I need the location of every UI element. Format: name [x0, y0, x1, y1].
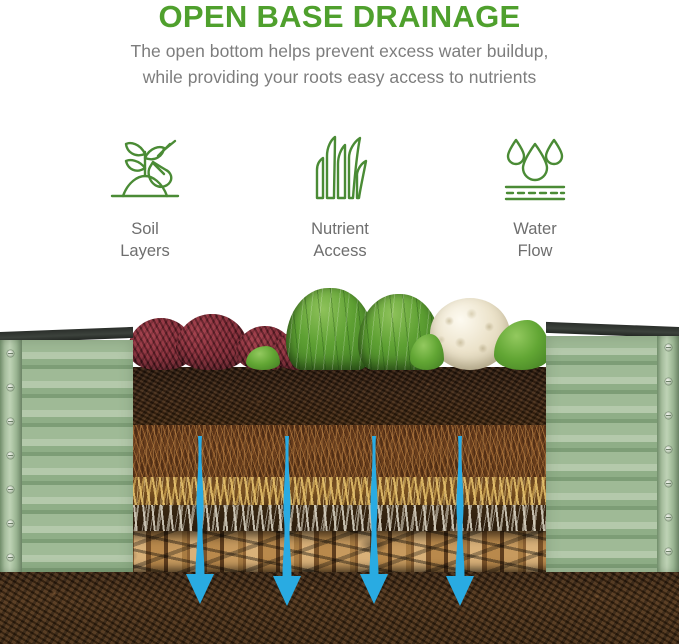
feature-soil-layers: Soil Layers — [60, 132, 230, 272]
feature-nutrient-access: Nutrient Access — [255, 132, 425, 272]
feature-nutrient-access-label: Nutrient Access — [311, 218, 369, 262]
panel-screw — [7, 350, 14, 357]
panel-screw — [7, 520, 14, 527]
feature-row: Soil Layers — [60, 132, 620, 272]
feature-label-line-2: Layers — [120, 240, 170, 262]
feature-water-flow-label: Water Flow — [513, 218, 556, 262]
left-metal-panel — [0, 340, 133, 572]
panel-screw — [665, 412, 672, 419]
feature-water-flow: Water Flow — [450, 132, 620, 272]
panel-screw — [665, 378, 672, 385]
feature-label-line-2: Flow — [513, 240, 556, 262]
native-ground-soil — [0, 572, 679, 644]
grass-blades-icon — [305, 132, 375, 204]
panel-screw — [665, 480, 672, 487]
panel-screw — [665, 344, 672, 351]
panel-screw — [7, 486, 14, 493]
panel-screw — [665, 514, 672, 521]
subtitle-line-2: while providing your roots easy access t… — [0, 64, 679, 90]
right-metal-panel — [546, 336, 679, 572]
panel-screw — [7, 452, 14, 459]
raised-garden-bed-cutaway — [0, 278, 679, 644]
subtitle-line-1: The open bottom helps prevent excess wat… — [131, 41, 549, 61]
panel-screw — [7, 384, 14, 391]
infographic-page: OPEN BASE DRAINAGE The open bottom helps… — [0, 0, 679, 644]
feature-label-line-1: Nutrient — [311, 218, 369, 240]
sprout-shovel-icon — [106, 132, 184, 204]
panel-screw — [665, 548, 672, 555]
water-droplets-drainage-icon — [497, 132, 573, 204]
feature-label-line-2: Access — [311, 240, 369, 262]
feature-soil-layers-label: Soil Layers — [120, 218, 170, 262]
panel-screw — [7, 554, 14, 561]
page-title: OPEN BASE DRAINAGE — [0, 0, 679, 36]
panel-screw — [7, 418, 14, 425]
feature-label-line-1: Soil — [120, 218, 170, 240]
page-subtitle: The open bottom helps prevent excess wat… — [0, 38, 679, 90]
right-panel-corner-post — [657, 336, 679, 572]
feature-label-line-1: Water — [513, 218, 556, 240]
panel-screw — [665, 446, 672, 453]
